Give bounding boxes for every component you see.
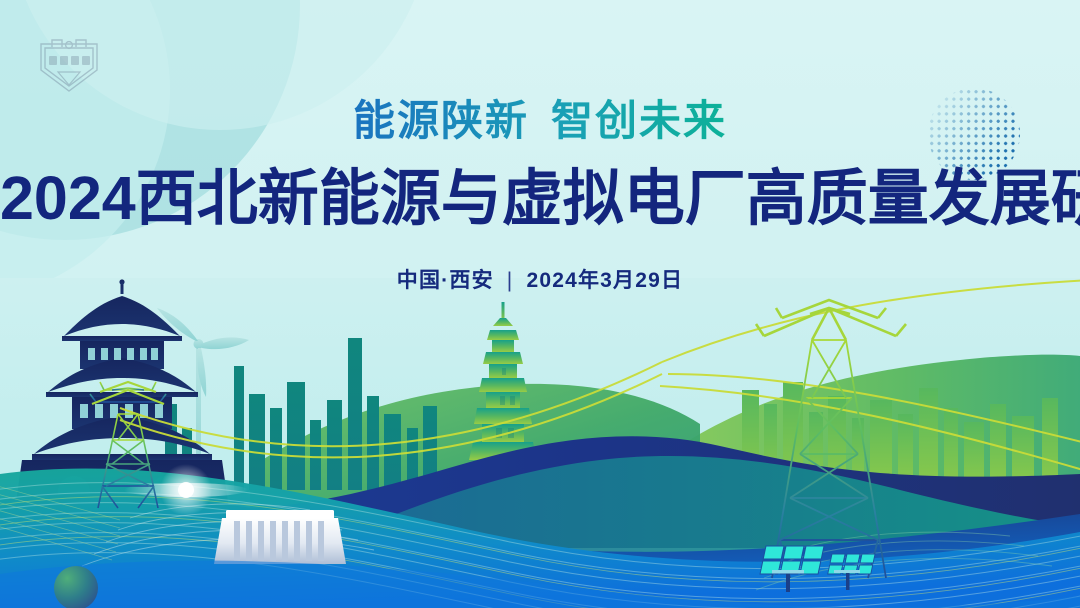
- event-location: 中国·西安: [397, 269, 494, 292]
- banner-subtitle: 能源陕新智创未来: [0, 0, 1080, 146]
- event-date: 2024年3月29日: [526, 269, 683, 292]
- scenery-illustration: [0, 278, 1080, 608]
- event-meta-line: 中国·西安|2024年3月29日: [0, 232, 1080, 294]
- meta-separator: |: [507, 269, 514, 293]
- subtitle-left-text: 能源陕新: [353, 97, 529, 144]
- light-glow: [178, 482, 194, 498]
- subtitle-right-text: 智创未来: [551, 97, 727, 144]
- banner-text-block: 能源陕新智创未来 2024西北新能源与虚拟电厂高质量发展研讨会 中国·西安|20…: [0, 0, 1080, 294]
- hydroelectric-dam: [214, 510, 346, 564]
- gradient-sphere-decor: [54, 566, 98, 608]
- conference-banner: 能源陕新智创未来 2024西北新能源与虚拟电厂高质量发展研讨会 中国·西安|20…: [0, 0, 1080, 608]
- page-title: 2024西北新能源与虚拟电厂高质量发展研讨会: [0, 146, 1080, 232]
